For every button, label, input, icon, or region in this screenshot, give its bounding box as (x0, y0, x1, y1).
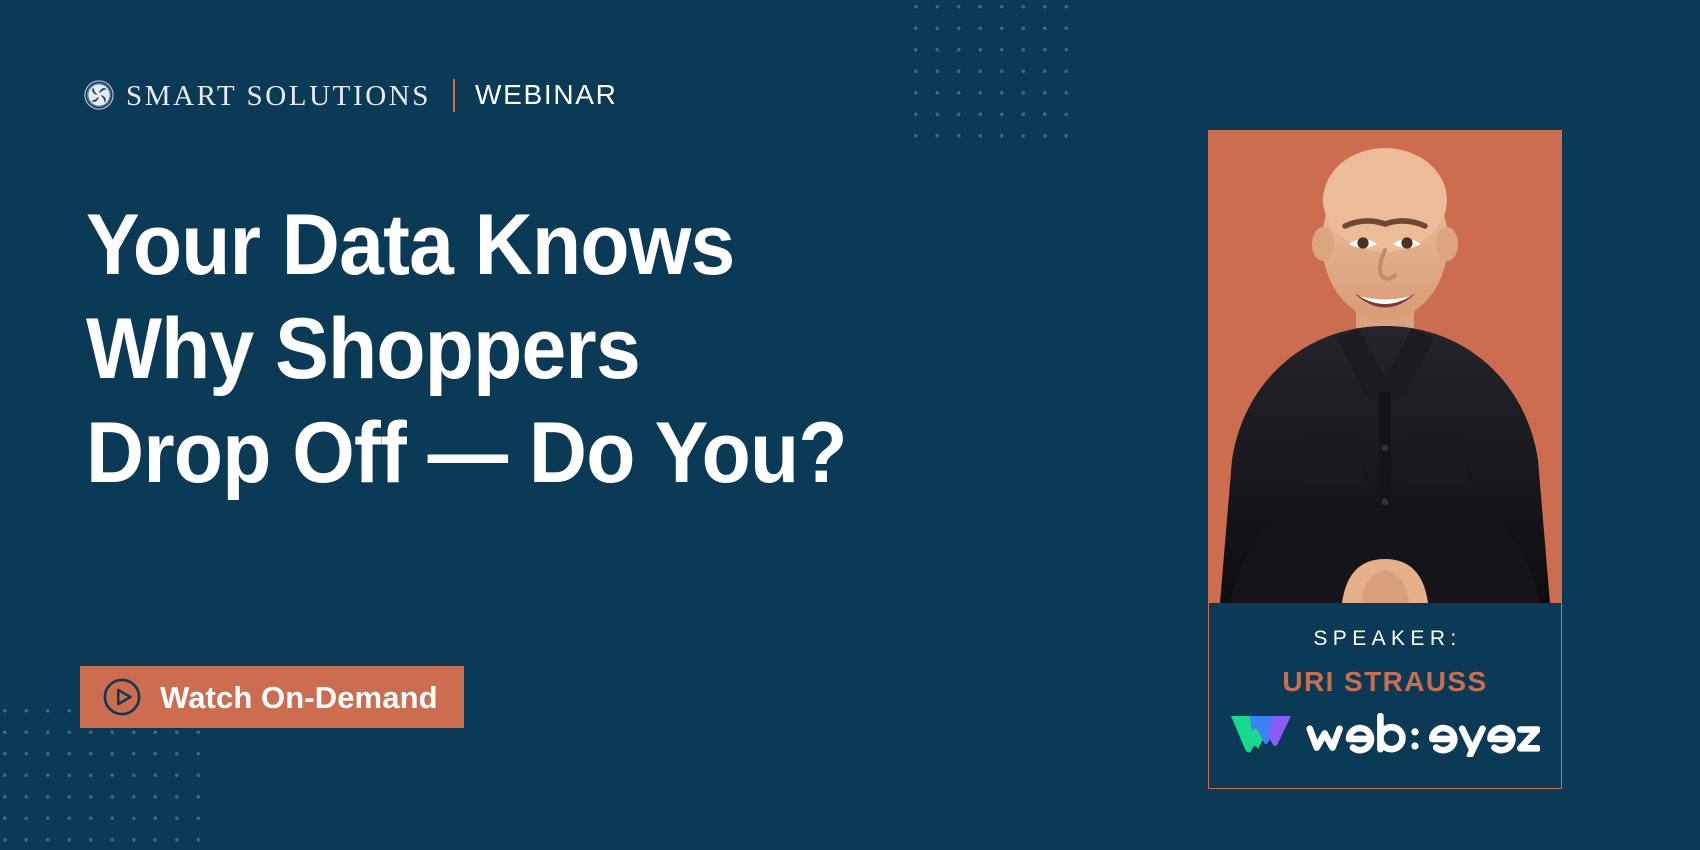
page-title: Your Data Knows Why Shoppers Drop Off — … (86, 193, 1030, 505)
webeyez-w-mark-icon (1230, 712, 1292, 758)
company-logo-webeyez (1230, 712, 1541, 758)
brand-name: SMART SOLUTIONS (126, 82, 431, 111)
headline-line-3: Drop Off — Do You? (86, 401, 1030, 505)
speaker-photo (1208, 130, 1562, 603)
webinar-promo-banner: SMART SOLUTIONS WEBINAR Your Data Knows … (0, 0, 1700, 850)
headline-line-2: Why Shoppers (86, 297, 1030, 401)
headline-line-1: Your Data Knows (86, 193, 1030, 297)
brand-divider (453, 79, 455, 112)
swirl-circle-emblem-icon (84, 80, 114, 110)
play-circle-icon (102, 677, 142, 717)
brand-lockup: SMART SOLUTIONS WEBINAR (84, 72, 618, 118)
speaker-panel: SPEAKER: URI STRAUSS (1208, 130, 1562, 789)
watch-on-demand-button[interactable]: Watch On-Demand (80, 666, 464, 728)
dot-grid-top-right (901, 0, 1086, 140)
speaker-info-card: SPEAKER: URI STRAUSS (1208, 603, 1562, 789)
speaker-portrait-illustration (1208, 130, 1562, 603)
watch-on-demand-label: Watch On-Demand (160, 682, 438, 713)
webeyez-wordmark (1305, 713, 1541, 757)
speaker-name: URI STRAUSS (1282, 668, 1487, 696)
speaker-kicker-label: SPEAKER: (1308, 628, 1461, 649)
brand-tag-webinar: WEBINAR (475, 81, 618, 109)
